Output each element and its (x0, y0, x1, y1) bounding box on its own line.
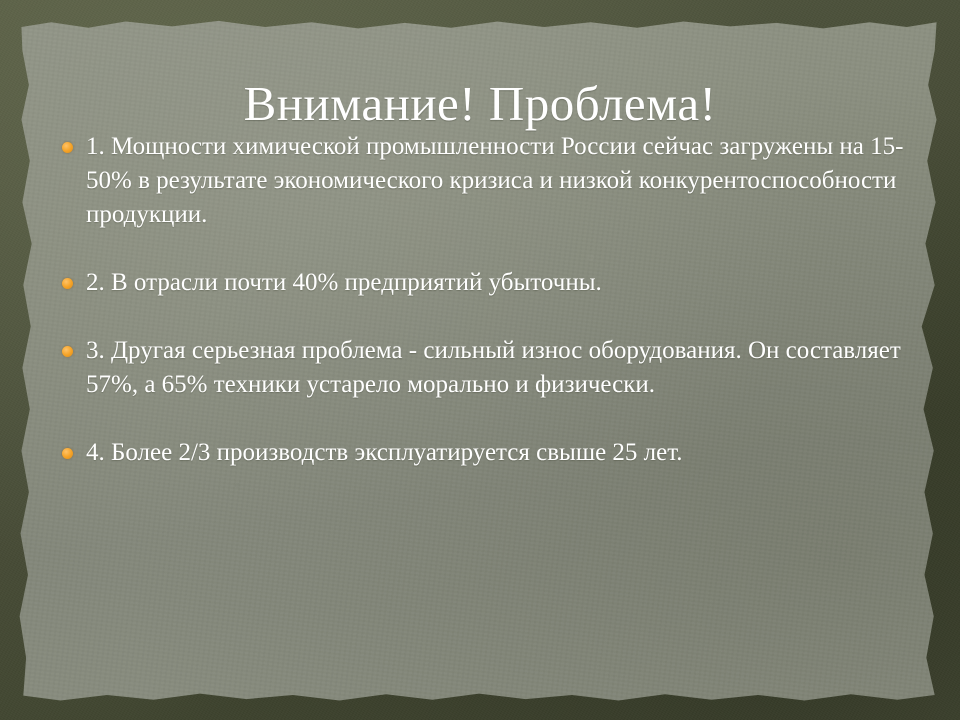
slide-title: Внимание! Проблема! (0, 79, 960, 128)
bullet-text-3: 3. Другая серьезная проблема - сильный и… (86, 334, 920, 402)
slide-content: Внимание! Проблема! 1. Мощности химическ… (0, 0, 960, 720)
orange-dot-bullet-icon (62, 142, 73, 153)
bullet-item-1: 1. Мощности химической промышленности Ро… (48, 130, 920, 232)
bullet-list: 1. Мощности химической промышленности Ро… (48, 130, 920, 470)
bullet-text-2: 2. В отрасли почти 40% предприятий убыто… (86, 266, 920, 300)
bullet-text-1: 1. Мощности химической промышленности Ро… (86, 130, 920, 232)
presentation-slide: Внимание! Проблема! 1. Мощности химическ… (0, 0, 960, 720)
orange-dot-bullet-icon (62, 278, 73, 289)
orange-dot-bullet-icon (62, 346, 73, 357)
orange-dot-bullet-icon (62, 448, 73, 459)
bullet-item-3: 3. Другая серьезная проблема - сильный и… (48, 334, 920, 402)
bullet-text-4: 4. Более 2/3 производств эксплуатируется… (86, 436, 920, 470)
bullet-item-4: 4. Более 2/3 производств эксплуатируется… (48, 436, 920, 470)
bullet-item-2: 2. В отрасли почти 40% предприятий убыто… (48, 266, 920, 300)
